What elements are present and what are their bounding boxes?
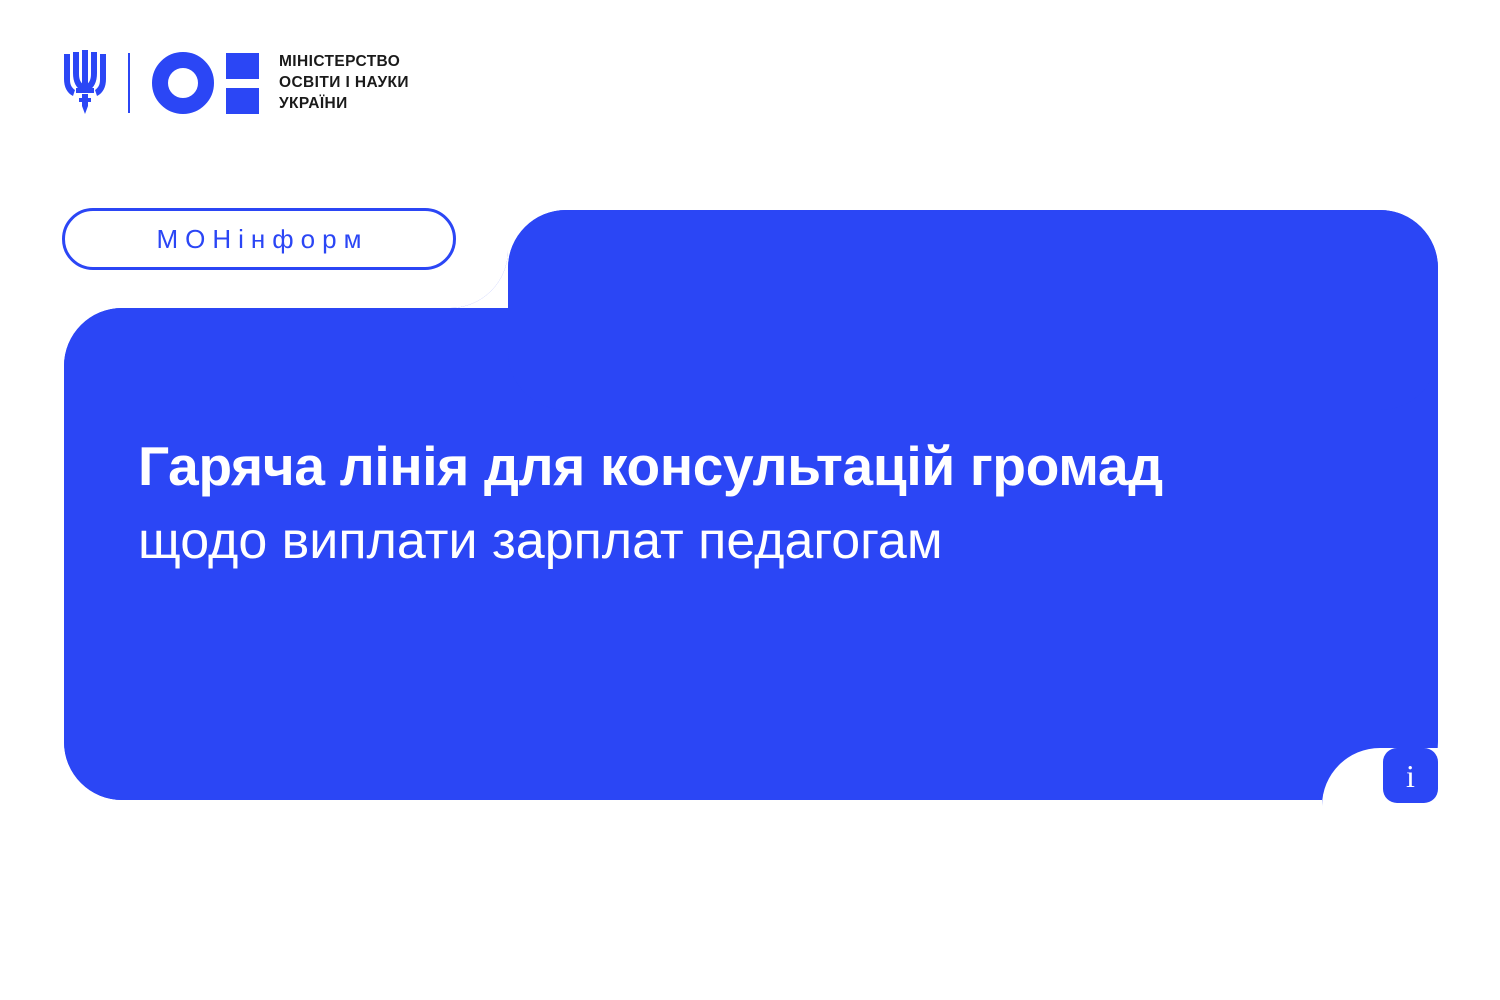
ministry-name-line-1: МІНІСТЕРСТВО — [279, 53, 409, 71]
mon-circle-equals-logo-icon — [152, 52, 259, 114]
ministry-name: МІНІСТЕРСТВО ОСВІТИ І НАУКИ УКРАЇНИ — [279, 53, 409, 114]
info-badge[interactable]: i — [1383, 748, 1438, 803]
announcement-headline: Гаряча лінія для консультацій громад щод… — [138, 436, 1378, 572]
info-icon: i — [1406, 760, 1415, 792]
ministry-name-line-3: УКРАЇНИ — [279, 95, 409, 113]
ministry-logo-lockup: МІНІСТЕРСТВО ОСВІТИ І НАУКИ УКРАЇНИ — [62, 45, 409, 121]
logo-bar-top — [226, 53, 259, 79]
ministry-name-line-2: ОСВІТИ І НАУКИ — [279, 74, 409, 92]
logo-bars-shape — [226, 53, 259, 114]
logo-divider — [128, 53, 130, 113]
headline-primary: Гаряча лінія для консультацій громад — [138, 436, 1378, 498]
logo-bar-bottom — [226, 88, 259, 114]
logo-ring-shape — [152, 52, 214, 114]
moninform-badge[interactable]: МОНінформ — [62, 208, 456, 270]
headline-secondary: щодо виплати зарплат педагогам — [138, 510, 1378, 572]
announcement-poster: МІНІСТЕРСТВО ОСВІТИ І НАУКИ УКРАЇНИ — [0, 0, 1500, 1000]
ukraine-trident-icon — [62, 48, 108, 118]
moninform-badge-label: МОНінформ — [150, 224, 369, 255]
